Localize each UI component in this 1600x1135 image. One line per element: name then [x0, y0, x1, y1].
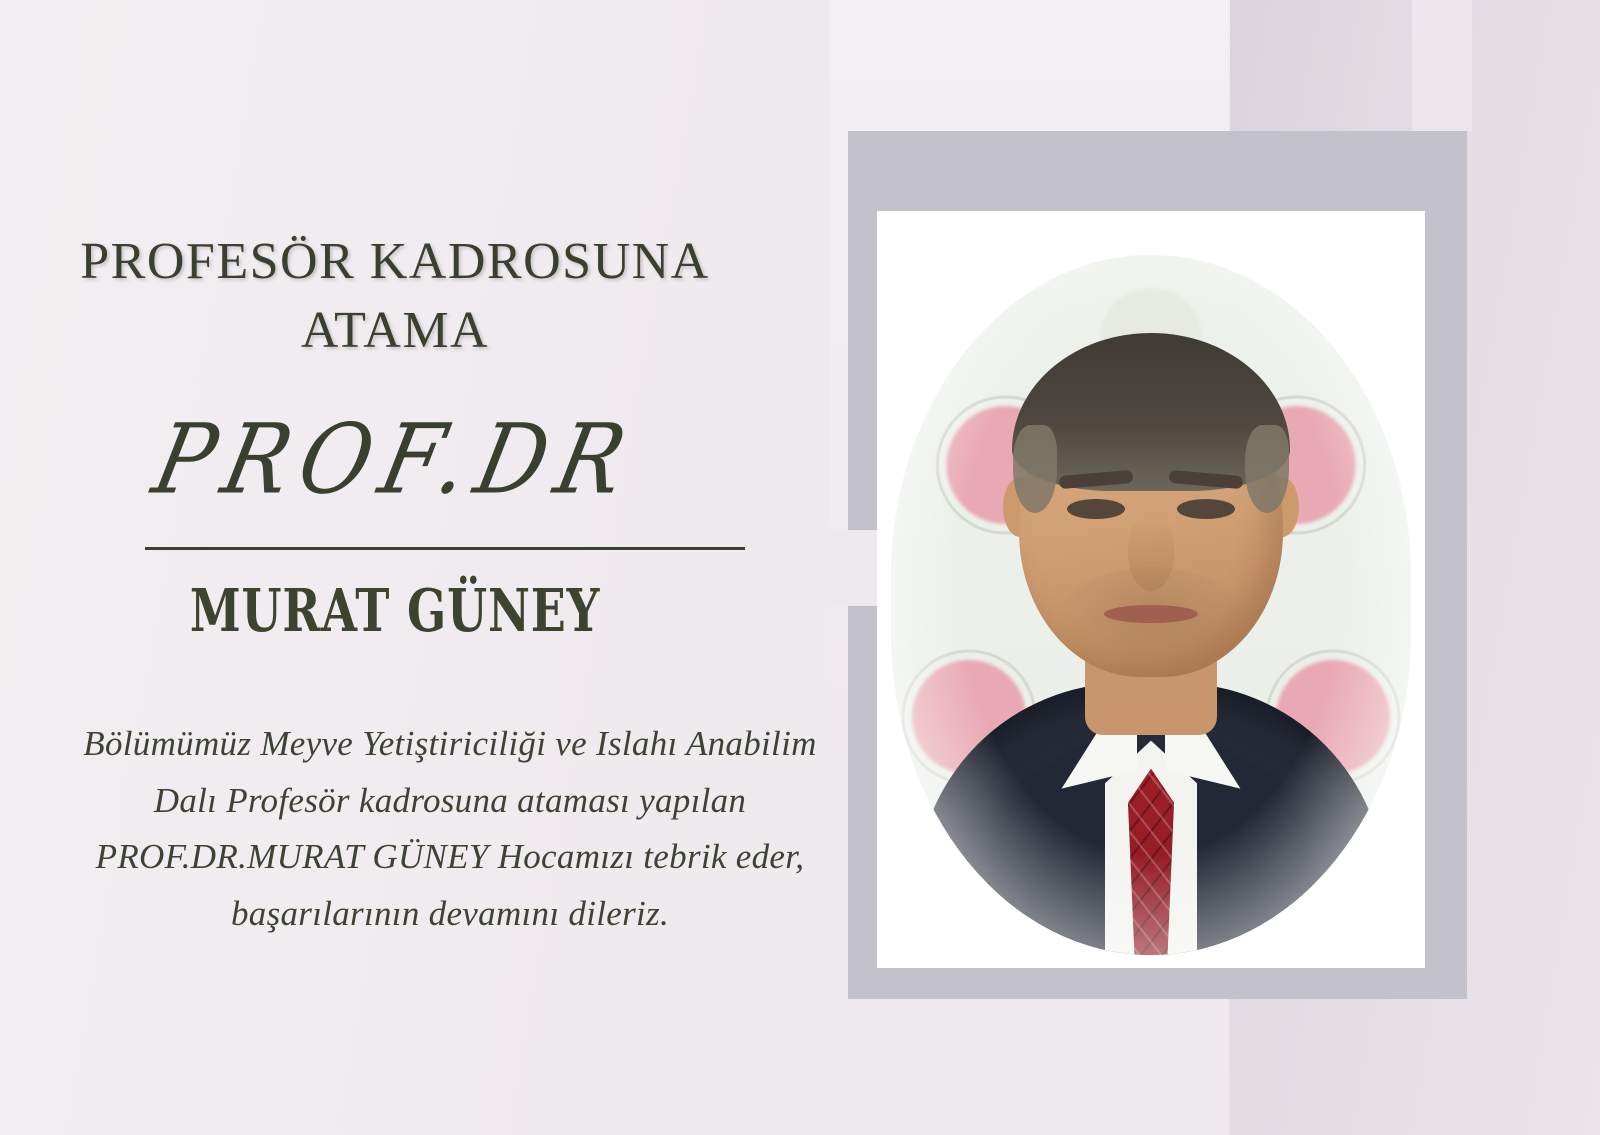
honoree-name: MURAT GÜNEY [96, 576, 695, 645]
portrait-image [891, 255, 1411, 955]
divider-rule [145, 547, 745, 550]
congratulation-message: Bölümümüz Meyve Yetiştiriciliği ve Islah… [70, 716, 830, 943]
temple-gray-right [1245, 425, 1289, 513]
script-subtitle: PROF.DR [18, 404, 772, 516]
page-title: PROFESÖR KADROSUNA ATAMA [30, 228, 760, 365]
eye-left [1067, 499, 1125, 519]
mouth [1104, 605, 1198, 623]
frame-notch-top-right [1412, 0, 1472, 131]
temple-gray-left [1013, 425, 1057, 513]
eye-right [1177, 499, 1235, 519]
announcement-poster: PROFESÖR KADROSUNA ATAMA PROF.DR MURAT G… [0, 0, 1600, 1135]
text-column: PROFESÖR KADROSUNA ATAMA PROF.DR MURAT G… [0, 0, 830, 1135]
nose [1128, 517, 1174, 591]
person-figure [891, 255, 1411, 955]
portrait-photo-card [877, 211, 1425, 968]
